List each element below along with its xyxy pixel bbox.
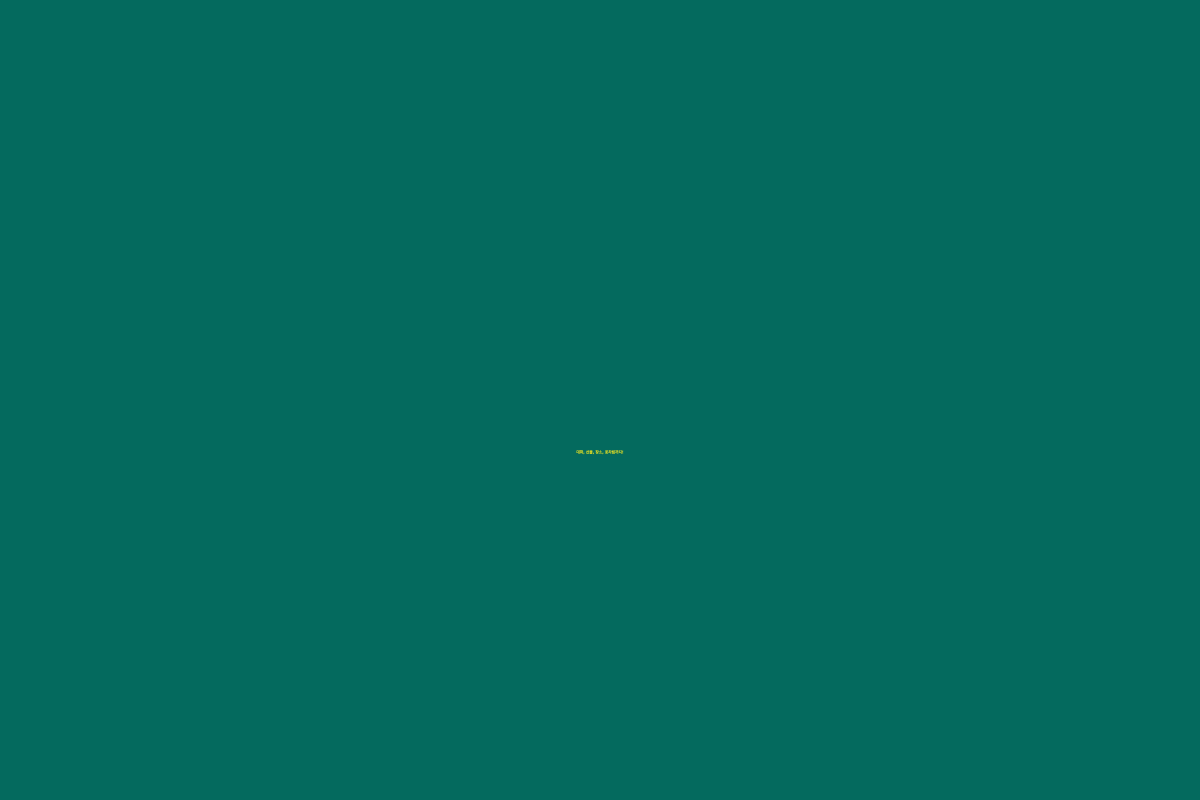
page-title: 상견례의 모든 것: 예절, 대화, 선물, 장소, 옷차림까지! xyxy=(0,272,1200,508)
title-line-1: 상견례의 모든 것: 예절, xyxy=(0,265,1200,390)
title-banner: 상견례의 모든 것: 예절, 대화, 선물, 장소, 옷차림까지! xyxy=(0,0,1200,800)
title-line-2: 대화, 선물, 장소, 옷차림까지! xyxy=(0,390,1200,515)
